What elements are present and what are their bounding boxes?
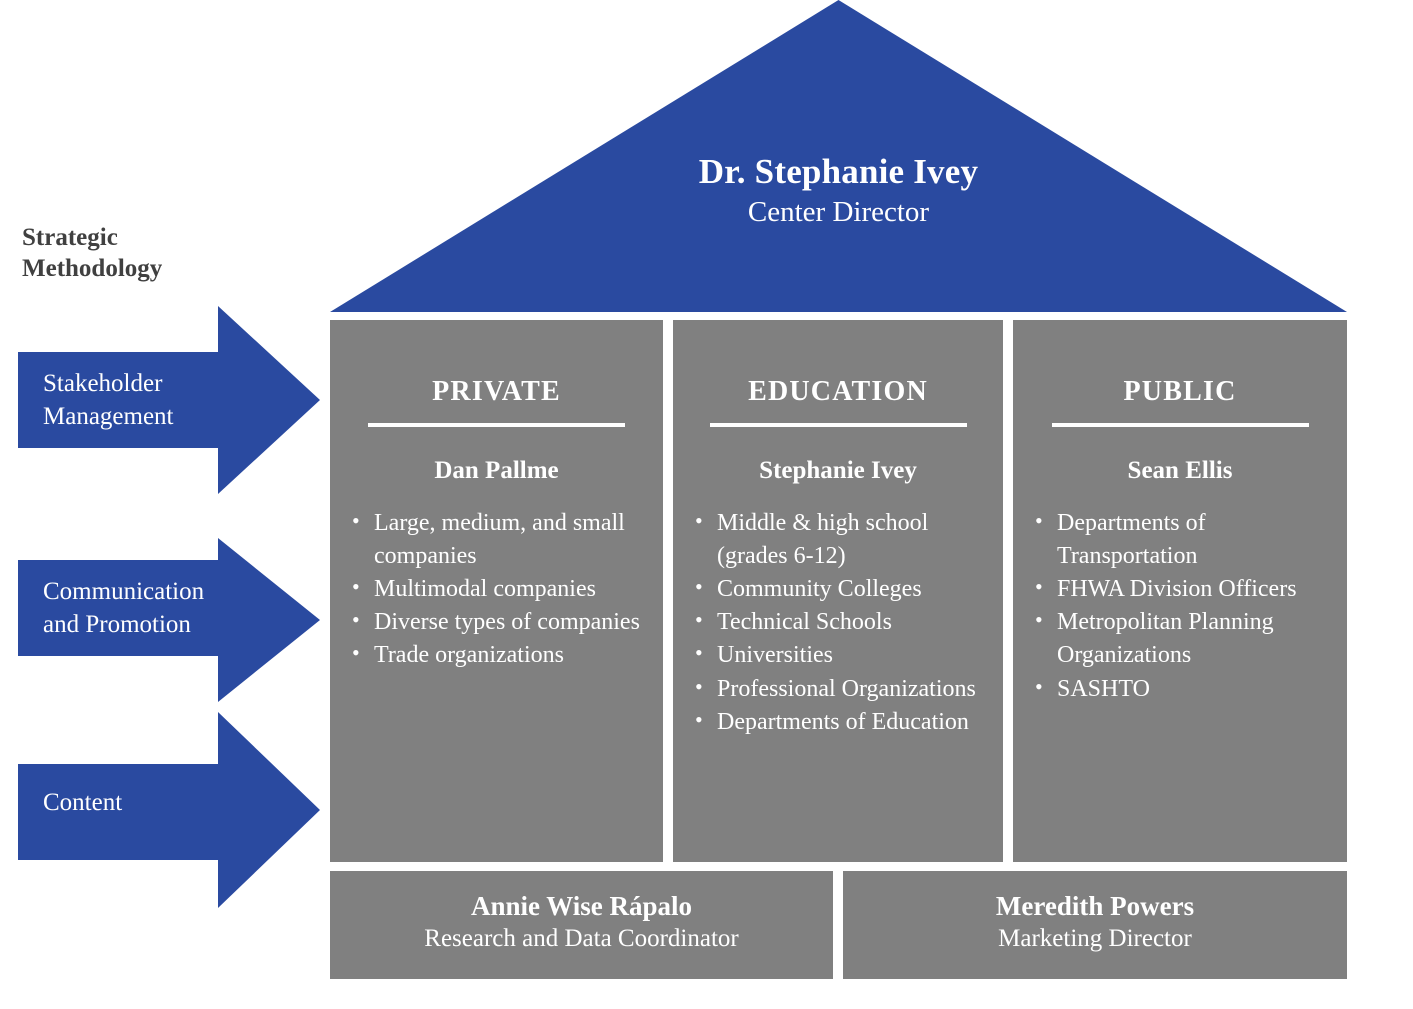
arrow-content: Content — [18, 712, 320, 908]
footer-research-role: Research and Data Coordinator — [330, 924, 833, 954]
footer-marketing-role: Marketing Director — [843, 924, 1347, 954]
strategy-heading-line1: Strategic — [22, 222, 282, 253]
footer-box-research-coordinator: Annie Wise Rápalo Research and Data Coor… — [330, 871, 833, 979]
right-arrow-icon — [18, 538, 320, 702]
list-item: Trade organizations — [348, 639, 651, 672]
list-item: Diverse types of companies — [348, 606, 651, 639]
list-item: Community Colleges — [691, 573, 991, 606]
pillar-education-list: Middle & high school (grades 6-12) Commu… — [673, 507, 1003, 739]
list-item: Metropolitan Planning Organizations — [1031, 606, 1335, 672]
pillar-education: EDUCATION Stephanie Ivey Middle & high s… — [673, 320, 1003, 862]
pillar-public: PUBLIC Sean Ellis Departments of Transpo… — [1013, 320, 1347, 862]
list-item: FHWA Division Officers — [1031, 573, 1335, 606]
pillar-private: PRIVATE Dan Pallme Large, medium, and sm… — [330, 320, 663, 862]
strategic-methodology-heading: Strategic Methodology — [22, 222, 282, 285]
list-item: Technical Schools — [691, 606, 991, 639]
list-item: Departments of Education — [691, 706, 991, 739]
right-arrow-icon — [18, 712, 320, 908]
pillar-private-title: PRIVATE — [330, 376, 663, 408]
pillar-private-list: Large, medium, and small companies Multi… — [330, 507, 663, 673]
list-item: Multimodal companies — [348, 573, 651, 606]
pillar-public-person: Sean Ellis — [1013, 457, 1347, 485]
pillar-public-title: PUBLIC — [1013, 376, 1347, 408]
list-item: Universities — [691, 639, 991, 672]
footer-research-name: Annie Wise Rápalo — [330, 890, 833, 922]
pillar-public-divider — [1052, 423, 1309, 427]
pillar-education-divider — [710, 423, 967, 427]
arrow-communication-promotion: Communication and Promotion — [18, 538, 320, 702]
list-item: Middle & high school (grades 6-12) — [691, 507, 991, 573]
org-chart-diagram: Dr. Stephanie Ivey Center Director Strat… — [0, 0, 1413, 1009]
footer-box-marketing-director: Meredith Powers Marketing Director — [843, 871, 1347, 979]
right-arrow-icon — [18, 306, 320, 494]
pillar-private-divider — [368, 423, 625, 427]
pillar-education-person: Stephanie Ivey — [673, 457, 1003, 485]
roof-triangle: Dr. Stephanie Ivey Center Director — [330, 0, 1347, 312]
arrow-stakeholder-management: Stakeholder Management — [18, 306, 320, 494]
pillar-private-person: Dan Pallme — [330, 457, 663, 485]
list-item: Departments of Transportation — [1031, 507, 1335, 573]
list-item: Large, medium, and small companies — [348, 507, 651, 573]
list-item: Professional Organizations — [691, 673, 991, 706]
pillar-education-title: EDUCATION — [673, 376, 1003, 408]
strategy-heading-line2: Methodology — [22, 253, 282, 284]
footer-marketing-name: Meredith Powers — [843, 890, 1347, 922]
list-item: SASHTO — [1031, 673, 1335, 706]
pillar-public-list: Departments of Transportation FHWA Divis… — [1013, 507, 1347, 706]
